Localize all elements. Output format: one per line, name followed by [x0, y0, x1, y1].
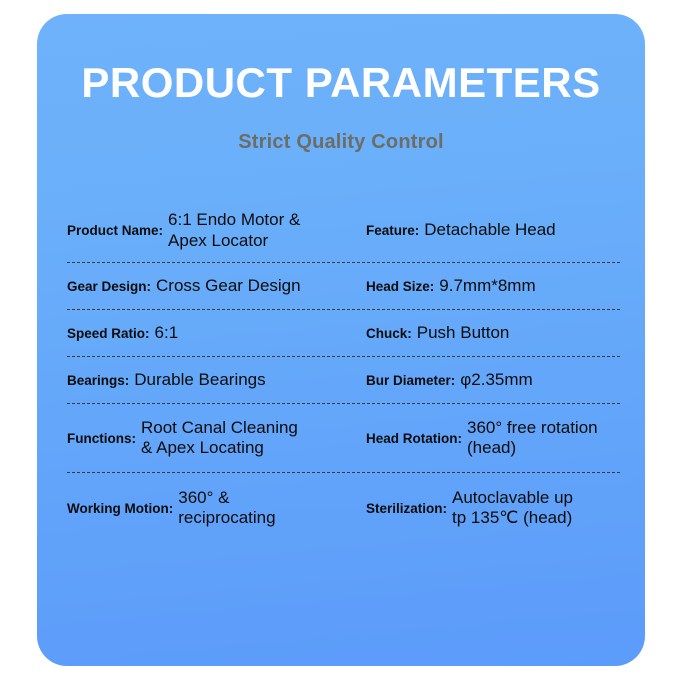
spec-value: Detachable Head [419, 220, 620, 241]
spec-label: Working Motion: [67, 501, 173, 516]
table-row: Working Motion: 360° &reciprocating Ster… [67, 472, 620, 543]
product-parameters-panel: PRODUCT PARAMETERS Strict Quality Contro… [37, 14, 645, 666]
spec-label: Sterilization: [366, 501, 447, 516]
spec-cell-head-size: Head Size: 9.7mm*8mm [366, 263, 620, 309]
spec-value: 6:1 [150, 323, 360, 344]
spec-value: Push Button [412, 323, 620, 344]
table-row: Speed Ratio: 6:1 Chuck: Push Button [67, 309, 620, 356]
page-title: PRODUCT PARAMETERS [37, 62, 645, 104]
spec-label: Chuck: [366, 326, 412, 341]
spec-cell-bur-diameter: Bur Diameter: φ2.35mm [366, 357, 620, 403]
spec-value: 6:1 Endo Motor &Apex Locator [163, 210, 360, 251]
table-row: Bearings: Durable Bearings Bur Diameter:… [67, 356, 620, 403]
spec-value: Durable Bearings [129, 370, 360, 391]
spec-label: Product Name: [67, 223, 163, 238]
spec-cell-product-name: Product Name: 6:1 Endo Motor &Apex Locat… [67, 199, 366, 262]
table-row: Product Name: 6:1 Endo Motor &Apex Locat… [67, 199, 620, 262]
spec-cell-head-rotation: Head Rotation: 360° free rotation(head) [366, 404, 620, 472]
spec-cell-gear-design: Gear Design: Cross Gear Design [67, 263, 366, 309]
spec-label: Functions: [67, 431, 136, 446]
spec-value: Autoclavable uptp 135℃ (head) [447, 488, 620, 529]
spec-label: Bearings: [67, 373, 129, 388]
page-subtitle: Strict Quality Control [37, 104, 645, 154]
spec-value: 360° free rotation(head) [462, 418, 620, 459]
spec-cell-chuck: Chuck: Push Button [366, 310, 620, 356]
spec-cell-feature: Feature: Detachable Head [366, 199, 620, 262]
spec-cell-speed-ratio: Speed Ratio: 6:1 [67, 310, 366, 356]
table-row: Gear Design: Cross Gear Design Head Size… [67, 262, 620, 309]
spec-value: 360° &reciprocating [173, 488, 360, 529]
spec-label: Gear Design: [67, 279, 151, 294]
spec-label: Speed Ratio: [67, 326, 150, 341]
spec-cell-functions: Functions: Root Canal Cleaning& Apex Loc… [67, 404, 366, 472]
spec-label: Head Size: [366, 279, 434, 294]
spec-label: Feature: [366, 223, 419, 238]
spec-cell-sterilization: Sterilization: Autoclavable uptp 135℃ (h… [366, 473, 620, 543]
spec-cell-bearings: Bearings: Durable Bearings [67, 357, 366, 403]
spec-cell-working-motion: Working Motion: 360° &reciprocating [67, 473, 366, 543]
spec-value: φ2.35mm [455, 370, 620, 391]
spec-value: Root Canal Cleaning& Apex Locating [136, 418, 360, 459]
table-row: Functions: Root Canal Cleaning& Apex Loc… [67, 403, 620, 472]
spec-label: Bur Diameter: [366, 373, 455, 388]
panel-header: PRODUCT PARAMETERS Strict Quality Contro… [37, 14, 645, 154]
spec-label: Head Rotation: [366, 431, 462, 446]
specifications-table: Product Name: 6:1 Endo Motor &Apex Locat… [67, 199, 620, 543]
spec-value: Cross Gear Design [151, 276, 360, 297]
spec-value: 9.7mm*8mm [434, 276, 620, 297]
